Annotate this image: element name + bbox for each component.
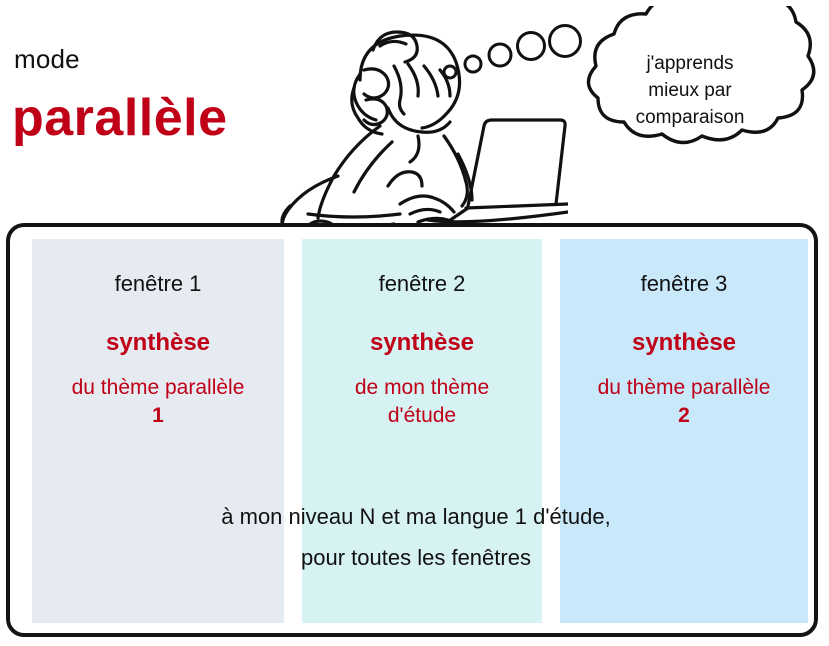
- window-column-3-synthesis-label: synthèse: [560, 329, 808, 357]
- window-column-3-description-number: 2: [560, 402, 808, 430]
- mode-title: parallèle: [12, 88, 228, 148]
- windows-columns: fenêtre 1 synthèse du thème parallèle 1 …: [10, 227, 822, 633]
- window-column-3[interactable]: fenêtre 3 synthèse du thème parallèle 2: [560, 239, 808, 623]
- window-column-1-description: du thème parallèle 1: [32, 374, 284, 431]
- window-column-3-header: fenêtre 3: [560, 271, 808, 297]
- windows-panel: fenêtre 1 synthèse du thème parallèle 1 …: [6, 223, 818, 637]
- window-column-2-synthesis-label: synthèse: [302, 329, 542, 357]
- thought-dot: [518, 33, 545, 60]
- window-column-2-header: fenêtre 2: [302, 271, 542, 297]
- thought-dot: [444, 66, 456, 78]
- thought-bubble: j'apprends mieux par comparaison: [556, 6, 824, 176]
- window-column-1-header: fenêtre 1: [32, 271, 284, 297]
- thought-dot: [465, 56, 481, 72]
- window-column-1[interactable]: fenêtre 1 synthèse du thème parallèle 1: [32, 239, 284, 623]
- window-column-1-description-line: du thème parallèle: [32, 374, 284, 402]
- window-column-2-description-line: de mon thème: [302, 374, 542, 402]
- window-column-3-description-line: du thème parallèle: [560, 374, 808, 402]
- window-column-1-synthesis-label: synthèse: [32, 329, 284, 357]
- window-column-2-description-number: d'étude: [302, 402, 542, 430]
- diagram-canvas: mode parallèle: [0, 0, 829, 646]
- header-zone: mode parallèle: [0, 0, 829, 223]
- window-column-2[interactable]: fenêtre 2 synthèse de mon thème d'étude: [302, 239, 542, 623]
- mode-label: mode: [14, 44, 80, 75]
- window-column-1-description-number: 1: [32, 402, 284, 430]
- thought-dot: [489, 44, 511, 66]
- window-column-3-description: du thème parallèle 2: [560, 374, 808, 431]
- window-column-2-description: de mon thème d'étude: [302, 374, 542, 431]
